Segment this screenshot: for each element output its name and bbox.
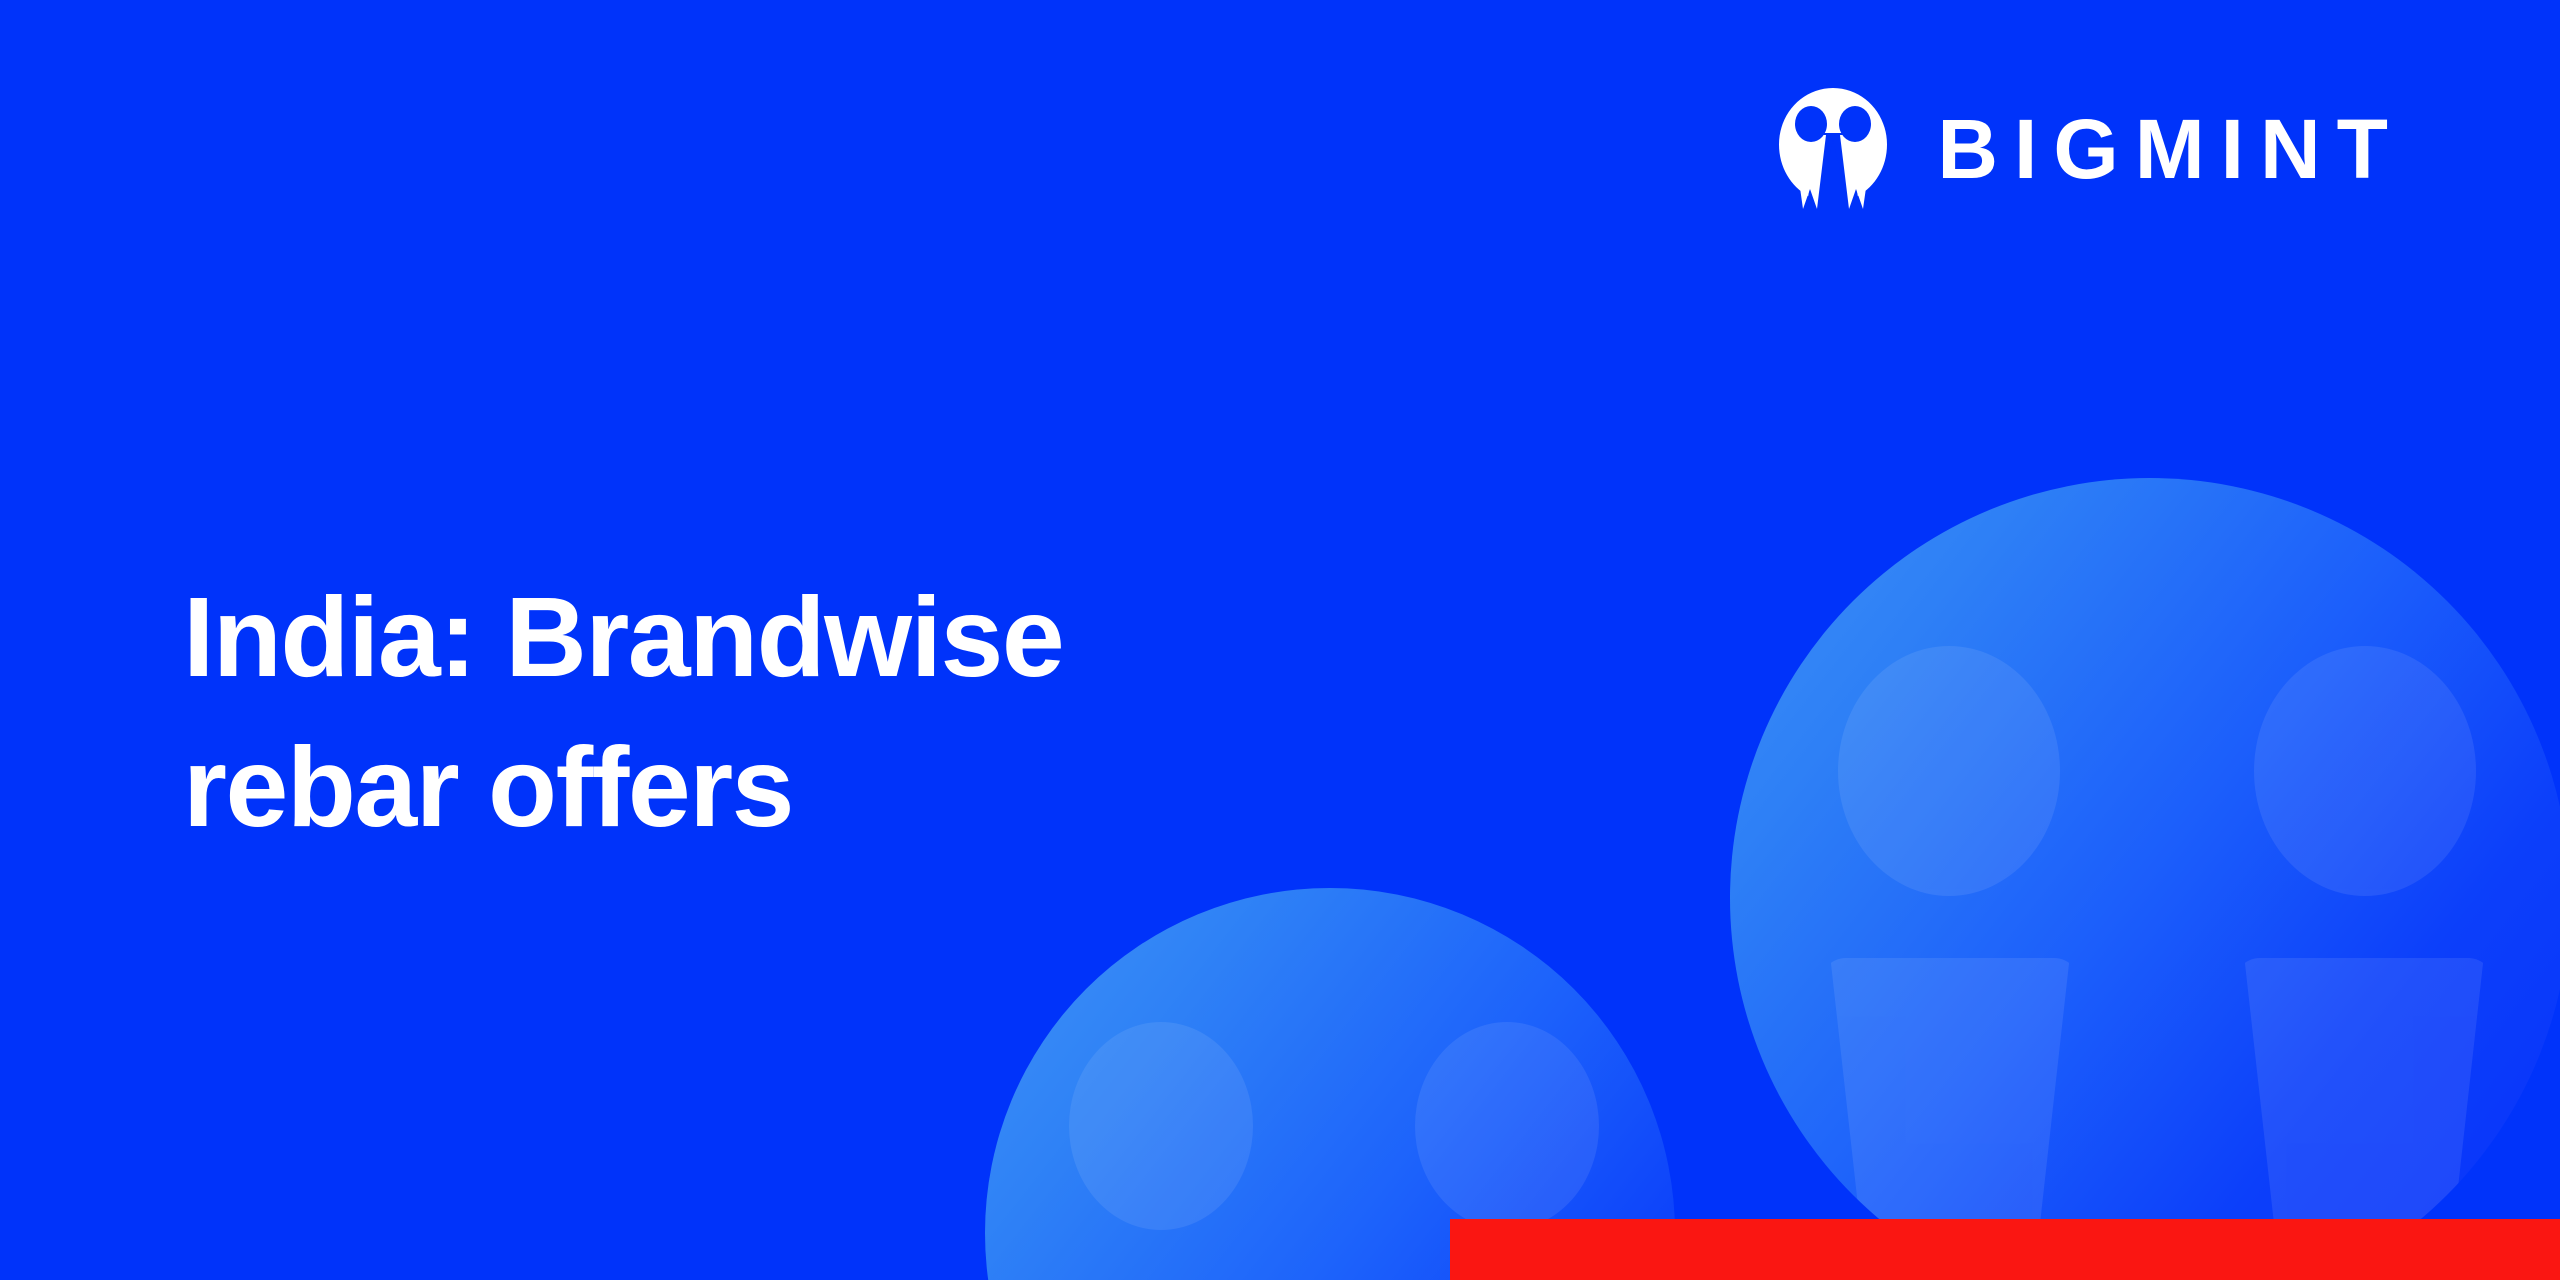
- page-title-line-2: rebar offers: [183, 712, 1283, 862]
- cover-slide: BIGMINT India: Brandwise rebar offers: [0, 0, 2560, 1280]
- bigmint-two-figures-icon: [1779, 88, 1887, 210]
- watermark-head-left: [1069, 1022, 1253, 1230]
- brand-logo[interactable]: BIGMINT: [1779, 88, 2388, 210]
- page-title: India: Brandwise rebar offers: [183, 562, 1283, 863]
- sphere-watermark-icon: [1810, 628, 2510, 1280]
- watermark-head-left: [1838, 646, 2060, 896]
- watermark-head-right: [1415, 1022, 1599, 1230]
- page-title-line-1: India: Brandwise: [183, 562, 1283, 712]
- bottom-red-accent-bar: [1450, 1219, 2560, 1280]
- brand-wordmark: BIGMINT: [1937, 107, 2404, 191]
- large-gradient-sphere: [1730, 478, 2560, 1280]
- watermark-head-right: [2254, 646, 2476, 896]
